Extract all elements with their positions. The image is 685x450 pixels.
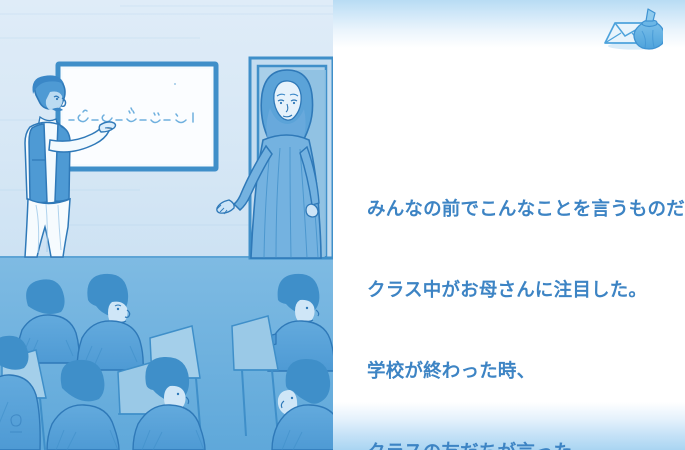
story-line: みんなの前でこんなことを言うものだから、 [367,195,677,222]
whiteboard [58,64,216,169]
illustration-canvas [0,0,333,450]
story-line: 学校が終わった時、 [367,357,677,384]
story-text-block: みんなの前でこんなことを言うものだから、 クラス中がお母さんに注目した。 学校が… [367,141,677,450]
envelope-and-bundle-icon [601,6,663,52]
story-line: クラスの友だちが言った。 [367,438,677,450]
story-line: クラス中がお母さんに注目した。 [367,276,677,303]
classroom-illustration [0,0,333,450]
cloth-bundle-icon [634,9,663,49]
story-text-page: みんなの前でこんなことを言うものだから、 クラス中がお母さんに注目した。 学校が… [333,0,685,450]
picture-book-spread: みんなの前でこんなことを言うものだから、 クラス中がお母さんに注目した。 学校が… [0,0,685,450]
